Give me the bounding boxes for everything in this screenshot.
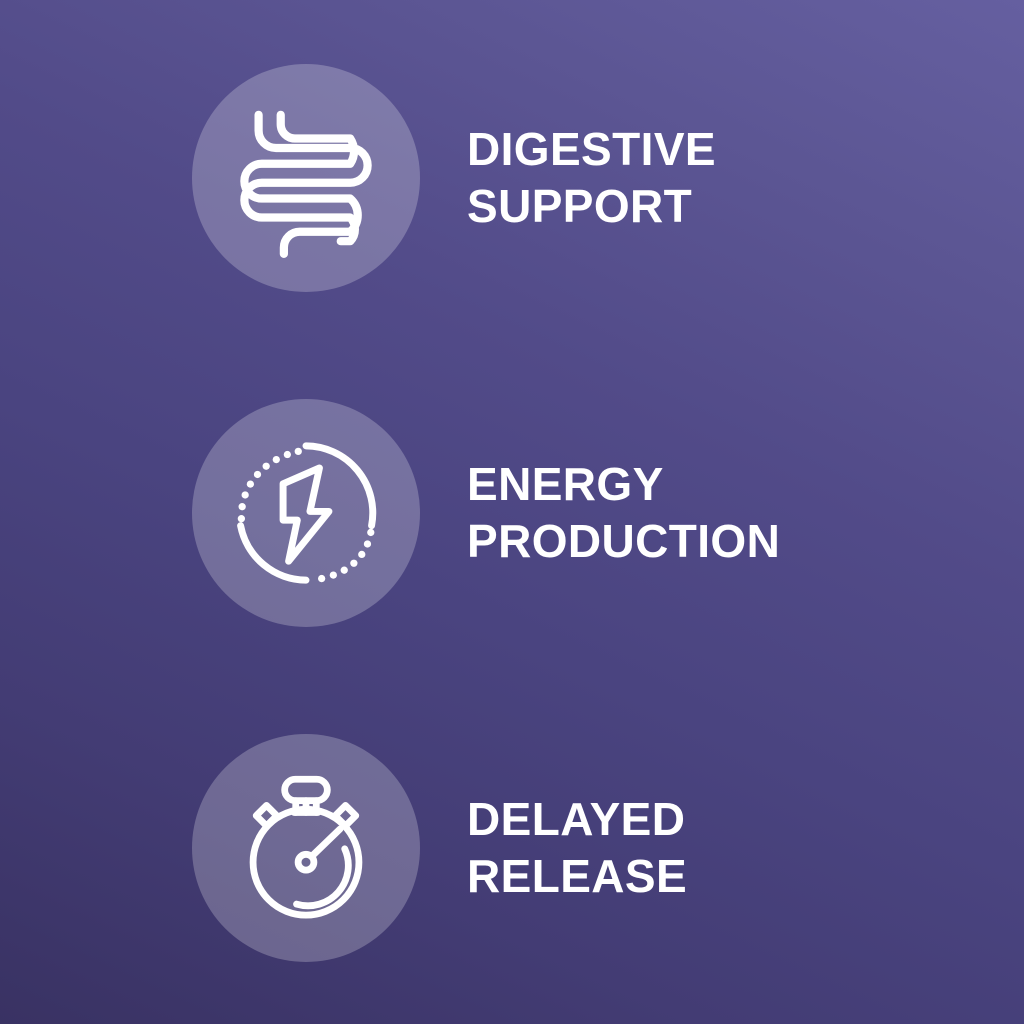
icon-badge-delayed-release bbox=[192, 734, 420, 962]
lightning-bolt-circle-icon bbox=[227, 434, 385, 592]
feature-label-line2: PRODUCTION bbox=[467, 513, 780, 570]
feature-label-line1: DIGESTIVE bbox=[467, 121, 716, 178]
feature-row: ENERGY PRODUCTION bbox=[0, 399, 1024, 627]
feature-row: DELAYED RELEASE bbox=[0, 734, 1024, 962]
stopwatch-icon bbox=[227, 769, 385, 927]
benefits-graphic: DIGESTIVE SUPPORT bbox=[0, 0, 1024, 1024]
feature-label-line2: SUPPORT bbox=[467, 178, 716, 235]
feature-label-line1: DELAYED bbox=[467, 791, 687, 848]
icon-badge-digestive bbox=[192, 64, 420, 292]
feature-label-energy: ENERGY PRODUCTION bbox=[467, 399, 780, 627]
feature-row: DIGESTIVE SUPPORT bbox=[0, 64, 1024, 292]
feature-label-line2: RELEASE bbox=[467, 848, 687, 905]
feature-label-line1: ENERGY bbox=[467, 456, 780, 513]
icon-badge-energy bbox=[192, 399, 420, 627]
feature-label-delayed-release: DELAYED RELEASE bbox=[467, 734, 687, 962]
intestine-icon bbox=[227, 99, 385, 257]
feature-label-digestive: DIGESTIVE SUPPORT bbox=[467, 64, 716, 292]
